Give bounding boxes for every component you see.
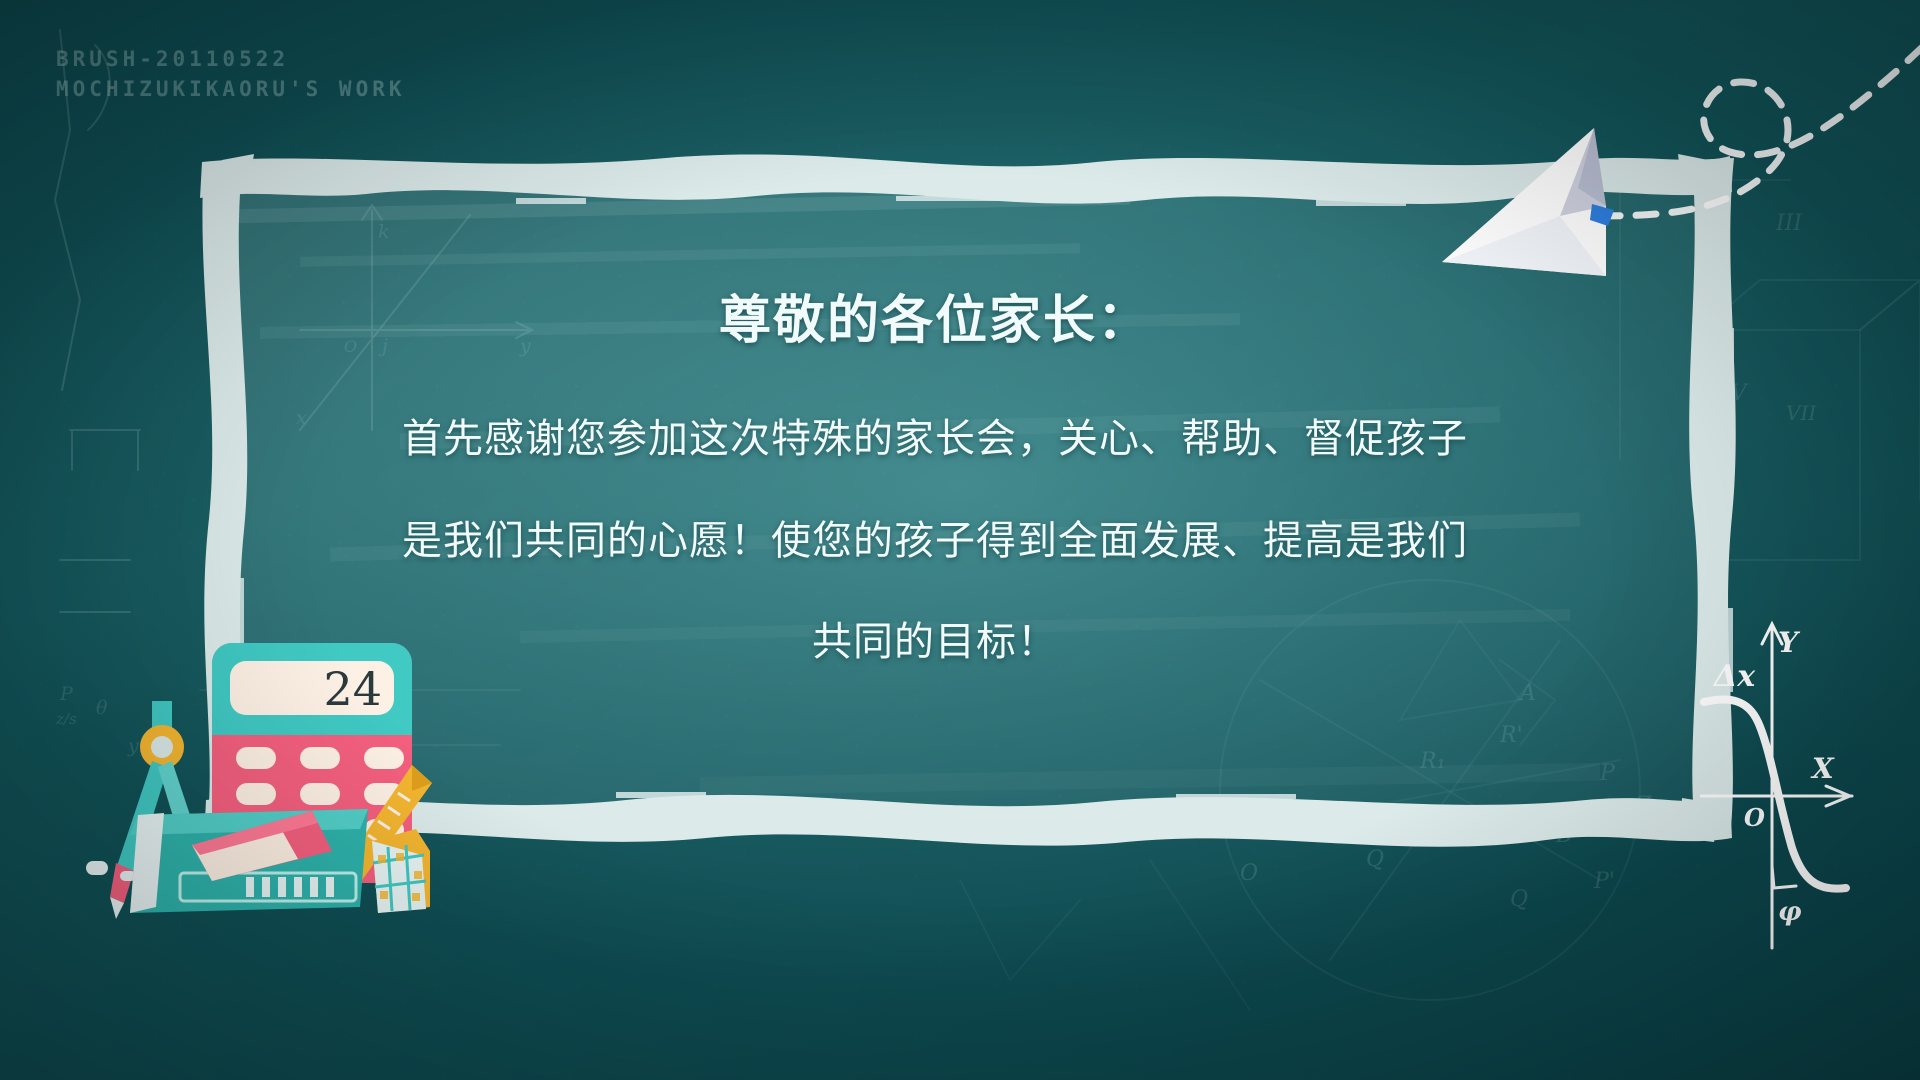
page-title: 尊敬的各位家长： [270, 290, 1600, 352]
svg-text:VII: VII [1786, 401, 1817, 425]
cube-icon [372, 829, 430, 913]
body-line-1: 首先感谢您参加这次特殊的家长会，关心、帮助、督促孩子 [270, 416, 1600, 463]
message-text-block: 尊敬的各位家长： 首先感谢您参加这次特殊的家长会，关心、帮助、督促孩子 是我们共… [270, 290, 1600, 666]
graph-label-phi: φ [1778, 897, 1802, 927]
calculator-display-value: 24 [323, 662, 382, 716]
body-line-2: 是我们共同的心愿！使您的孩子得到全面发展、提高是我们 [270, 518, 1600, 565]
stationery-illustration: 24 [60, 615, 430, 925]
graph-label-origin: O [1744, 803, 1765, 832]
svg-text:O: O [1240, 861, 1258, 886]
svg-text:Q: Q [1366, 847, 1384, 872]
airplane-trail-path [1600, 40, 1920, 216]
chalk-graph: Y X Δx O φ [1700, 600, 1920, 955]
watermark-line-1: BRUSH-20110522 [56, 44, 406, 74]
graph-label-delta-x: Δx [1712, 659, 1756, 694]
graph-label-x: X [1810, 752, 1835, 785]
paper-airplane-decoration [1430, 20, 1920, 300]
graph-label-y: Y [1778, 626, 1801, 659]
watermark-line-2: MOCHIZUKIKAORU'S WORK [56, 74, 406, 104]
slide-canvas: k j x y O P z/s θ y III IV IV VII R₁ R' … [0, 0, 1920, 1080]
svg-text:P': P' [1593, 869, 1615, 894]
airplane-icon [1442, 128, 1614, 276]
body-line-3: 共同的目标！ [270, 619, 1600, 666]
svg-text:Q: Q [1510, 887, 1528, 912]
watermark: BRUSH-20110522 MOCHIZUKIKAORU'S WORK [56, 44, 406, 105]
graph-curve [1704, 699, 1846, 888]
books-icon [130, 809, 368, 913]
